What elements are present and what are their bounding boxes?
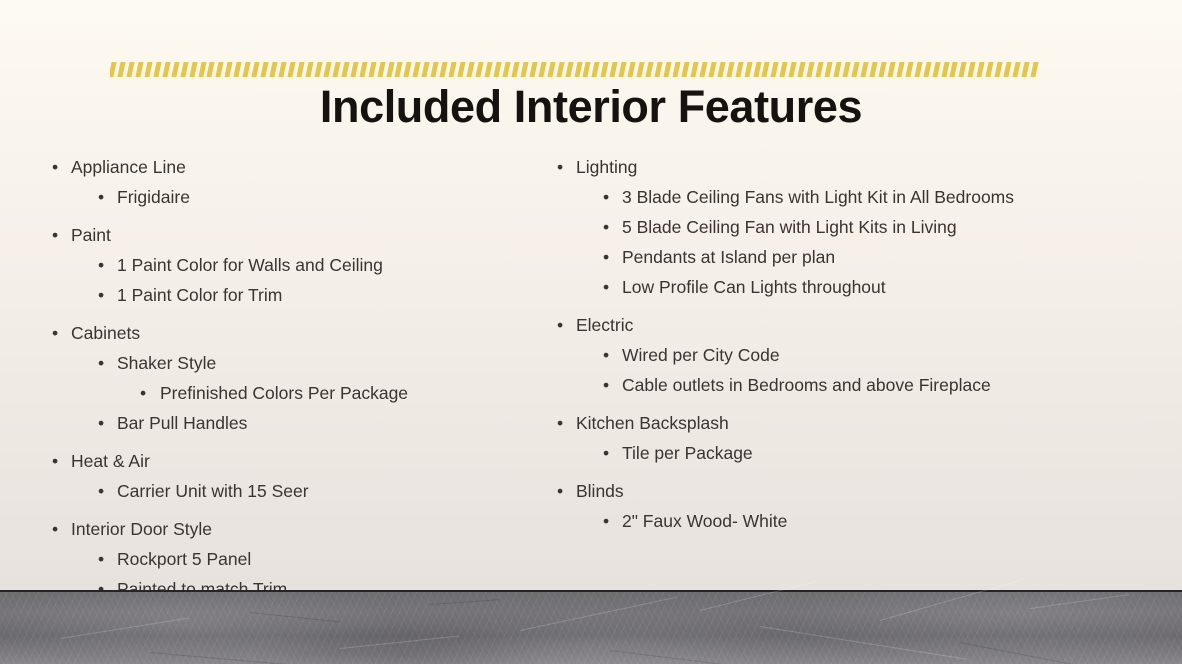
bullet-dot-icon: • <box>603 212 609 242</box>
gold-dash <box>144 62 152 77</box>
gold-dash <box>735 62 743 77</box>
gold-dash <box>905 62 913 77</box>
bullet-dot-icon: • <box>98 408 104 438</box>
bullet-item-label: Interior Door Style <box>71 514 212 544</box>
bullet-item-level-1: •Heat & Air <box>44 446 524 476</box>
gold-dash <box>914 62 922 77</box>
bullet-item-level-1: •Interior Door Style <box>44 514 524 544</box>
gold-dash <box>1021 62 1029 77</box>
gold-dash <box>395 62 403 77</box>
bullet-dot-icon: • <box>603 182 609 212</box>
stone-scratch <box>520 597 677 631</box>
gold-dash <box>502 62 510 77</box>
bullet-item-label: 1 Paint Color for Trim <box>117 280 282 310</box>
gold-dash <box>180 62 188 77</box>
gold-dash <box>753 62 761 77</box>
gold-dash <box>135 62 143 77</box>
gold-dash <box>699 62 707 77</box>
gold-dash <box>771 62 779 77</box>
bullet-dot-icon: • <box>98 476 104 506</box>
gold-dash <box>189 62 197 77</box>
bullet-item-level-2: •1 Paint Color for Trim <box>44 280 524 310</box>
gold-dash <box>458 62 466 77</box>
bullet-item-label: Pendants at Island per plan <box>622 242 835 272</box>
bullet-item-level-2: •Cable outlets in Bedrooms and above Fir… <box>549 370 1149 400</box>
dashed-gold-rule <box>110 62 1041 77</box>
bullet-item-label: 5 Blade Ceiling Fan with Light Kits in L… <box>622 212 957 242</box>
gold-dash <box>762 62 770 77</box>
gold-dash <box>198 62 206 77</box>
gold-dash <box>565 62 573 77</box>
bullet-item-level-2: •1 Paint Color for Walls and Ceiling <box>44 250 524 280</box>
bullet-item-level-2: •3 Blade Ceiling Fans with Light Kit in … <box>549 182 1149 212</box>
gold-dash <box>431 62 439 77</box>
gold-dash <box>440 62 448 77</box>
bullet-item-label: Lighting <box>576 152 637 182</box>
gold-dash <box>466 62 474 77</box>
gold-dash <box>574 62 582 77</box>
gold-dash <box>941 62 949 77</box>
gold-dash <box>601 62 609 77</box>
bullet-dot-icon: • <box>52 318 58 348</box>
gold-dash <box>126 62 134 77</box>
bullet-dot-icon: • <box>52 446 58 476</box>
stone-scratch <box>1030 594 1129 609</box>
bullet-dot-icon: • <box>557 476 563 506</box>
gold-dash <box>422 62 430 77</box>
bullet-item-level-3: •Prefinished Colors Per Package <box>44 378 524 408</box>
bullet-item-label: Frigidaire <box>117 182 190 212</box>
gold-dash <box>350 62 358 77</box>
gold-dash <box>995 62 1003 77</box>
gold-dash <box>950 62 958 77</box>
gold-dash <box>986 62 994 77</box>
bullet-item-level-2: •Carrier Unit with 15 Seer <box>44 476 524 506</box>
bullet-dot-icon: • <box>603 370 609 400</box>
gold-dash <box>717 62 725 77</box>
bullet-dot-icon: • <box>603 506 609 536</box>
stone-scratch <box>60 618 189 639</box>
bullet-dot-icon: • <box>603 438 609 468</box>
gold-dash <box>110 62 117 77</box>
gold-dash <box>637 62 645 77</box>
gold-dash <box>278 62 286 77</box>
gold-dash <box>556 62 564 77</box>
gold-dash <box>869 62 877 77</box>
bullet-dot-icon: • <box>603 272 609 302</box>
left-feature-list-items: •Appliance Line•Frigidaire•Paint•1 Paint… <box>44 152 524 604</box>
gold-dash <box>162 62 170 77</box>
bullet-item-label: Heat & Air <box>71 446 150 476</box>
gold-dash <box>225 62 233 77</box>
stone-scratch <box>150 652 329 664</box>
gold-dash <box>1013 62 1021 77</box>
bullet-dot-icon: • <box>98 544 104 574</box>
gold-dash <box>234 62 242 77</box>
right-feature-list: •Lighting•3 Blade Ceiling Fans with Ligh… <box>549 152 1149 536</box>
gold-dash <box>243 62 251 77</box>
bullet-item-label: 3 Blade Ceiling Fans with Light Kit in A… <box>622 182 1014 212</box>
bullet-item-level-1: •Cabinets <box>44 318 524 348</box>
bullet-item-level-2: •Wired per City Code <box>549 340 1149 370</box>
bullet-item-level-2: •Bar Pull Handles <box>44 408 524 438</box>
gold-dash <box>261 62 269 77</box>
gold-dash <box>484 62 492 77</box>
bullet-item-label: Cabinets <box>71 318 140 348</box>
gold-dash <box>744 62 752 77</box>
bullet-dot-icon: • <box>603 340 609 370</box>
gold-dash <box>475 62 483 77</box>
slide: Included Interior Features •Appliance Li… <box>0 0 1182 664</box>
gold-dash <box>449 62 457 77</box>
stone-scratch <box>760 626 968 660</box>
bullet-item-label: Appliance Line <box>71 152 186 182</box>
gold-dash <box>708 62 716 77</box>
gold-dash <box>359 62 367 77</box>
bullet-item-level-2: •Tile per Package <box>549 438 1149 468</box>
gold-dash <box>672 62 680 77</box>
bullet-item-label: 2" Faux Wood- White <box>622 506 787 536</box>
gold-dash <box>117 62 125 77</box>
bullet-item-label: Shaker Style <box>117 348 216 378</box>
gold-dash <box>538 62 546 77</box>
bullet-dot-icon: • <box>98 182 104 212</box>
bullet-dot-icon: • <box>52 152 58 182</box>
bullet-dot-icon: • <box>557 408 563 438</box>
page-title: Included Interior Features <box>0 80 1182 134</box>
bullet-item-level-1: •Appliance Line <box>44 152 524 182</box>
gold-dash <box>807 62 815 77</box>
bullet-item-level-2: •5 Blade Ceiling Fan with Light Kits in … <box>549 212 1149 242</box>
bullet-item-label: Paint <box>71 220 111 250</box>
bullet-item-label: Blinds <box>576 476 624 506</box>
stone-scratch <box>700 581 817 611</box>
stone-scratch <box>340 635 459 649</box>
gold-dash <box>780 62 788 77</box>
bullet-dot-icon: • <box>52 514 58 544</box>
gold-dash <box>887 62 895 77</box>
gold-dash <box>654 62 662 77</box>
bullet-dot-icon: • <box>98 280 104 310</box>
gold-dash <box>798 62 806 77</box>
gold-dash <box>968 62 976 77</box>
gold-dash <box>368 62 376 77</box>
gold-dash <box>529 62 537 77</box>
gold-dash <box>977 62 985 77</box>
right-feature-list-items: •Lighting•3 Blade Ceiling Fans with Ligh… <box>549 152 1149 536</box>
gold-dash <box>314 62 322 77</box>
gold-dash <box>619 62 627 77</box>
gold-dash <box>690 62 698 77</box>
gold-dash <box>323 62 331 77</box>
gold-dash <box>216 62 224 77</box>
gold-dash <box>646 62 654 77</box>
gold-dash <box>878 62 886 77</box>
gold-dash <box>547 62 555 77</box>
bullet-dot-icon: • <box>52 220 58 250</box>
gold-dash <box>305 62 313 77</box>
bullet-item-label: 1 Paint Color for Walls and Ceiling <box>117 250 383 280</box>
gold-dash <box>386 62 394 77</box>
gold-dash <box>860 62 868 77</box>
bullet-item-level-2: •Shaker Style <box>44 348 524 378</box>
bullet-item-level-2: •Low Profile Can Lights throughout <box>549 272 1149 302</box>
bullet-item-label: Tile per Package <box>622 438 753 468</box>
bullet-item-level-1: •Paint <box>44 220 524 250</box>
left-feature-list: •Appliance Line•Frigidaire•Paint•1 Paint… <box>44 152 524 604</box>
gold-dash <box>377 62 385 77</box>
gold-dash <box>789 62 797 77</box>
gold-dash <box>825 62 833 77</box>
bullet-dot-icon: • <box>98 250 104 280</box>
gold-dash <box>287 62 295 77</box>
bullet-item-level-1: •Electric <box>549 310 1149 340</box>
gold-dash <box>520 62 528 77</box>
gold-dash <box>610 62 618 77</box>
bullet-item-level-2: •2" Faux Wood- White <box>549 506 1149 536</box>
bullet-dot-icon: • <box>557 152 563 182</box>
gold-dash <box>270 62 278 77</box>
gold-dash <box>153 62 161 77</box>
bullet-item-label: Carrier Unit with 15 Seer <box>117 476 309 506</box>
bullet-item-level-1: •Lighting <box>549 152 1149 182</box>
gold-dash <box>252 62 260 77</box>
bullet-item-level-2: •Pendants at Island per plan <box>549 242 1149 272</box>
stone-scratch <box>250 612 340 622</box>
bullet-item-label: Rockport 5 Panel <box>117 544 251 574</box>
gold-dash <box>726 62 734 77</box>
gray-stone-texture-band <box>0 590 1182 664</box>
stone-scratch <box>960 642 1078 664</box>
gold-dash <box>932 62 940 77</box>
gold-dash <box>207 62 215 77</box>
gold-dash <box>341 62 349 77</box>
bullet-item-label: Cable outlets in Bedrooms and above Fire… <box>622 370 991 400</box>
gold-dash <box>511 62 519 77</box>
gold-dash <box>959 62 967 77</box>
bullet-dot-icon: • <box>140 378 146 408</box>
bullet-item-label: Kitchen Backsplash <box>576 408 729 438</box>
gold-dash <box>663 62 671 77</box>
gold-dash <box>896 62 904 77</box>
gold-dash <box>583 62 591 77</box>
bullet-item-label: Low Profile Can Lights throughout <box>622 272 886 302</box>
bullet-item-label: Wired per City Code <box>622 340 780 370</box>
bullet-dot-icon: • <box>98 348 104 378</box>
gold-dash <box>171 62 179 77</box>
bullet-item-label: Prefinished Colors Per Package <box>160 378 408 408</box>
bullet-item-level-2: •Frigidaire <box>44 182 524 212</box>
gold-dash <box>842 62 850 77</box>
bullet-item-label: Bar Pull Handles <box>117 408 247 438</box>
gold-dash <box>923 62 931 77</box>
gold-dash <box>1030 62 1038 77</box>
gold-dash <box>851 62 859 77</box>
stone-scratch <box>880 579 1024 621</box>
gold-dash <box>816 62 824 77</box>
stone-scratch <box>610 650 749 664</box>
gold-dash <box>404 62 412 77</box>
bullet-item-level-2: •Rockport 5 Panel <box>44 544 524 574</box>
gold-dash <box>413 62 421 77</box>
bullet-item-level-1: •Kitchen Backsplash <box>549 408 1149 438</box>
gold-dash <box>628 62 636 77</box>
bullet-item-label: Electric <box>576 310 633 340</box>
gold-dash <box>681 62 689 77</box>
gold-dash <box>296 62 304 77</box>
gold-dash <box>833 62 841 77</box>
gold-dash <box>592 62 600 77</box>
bullet-dot-icon: • <box>603 242 609 272</box>
bullet-item-level-1: •Blinds <box>549 476 1149 506</box>
gold-dash <box>493 62 501 77</box>
gold-dash <box>1004 62 1012 77</box>
gold-dash <box>332 62 340 77</box>
bullet-dot-icon: • <box>557 310 563 340</box>
stone-scratch <box>430 599 500 605</box>
